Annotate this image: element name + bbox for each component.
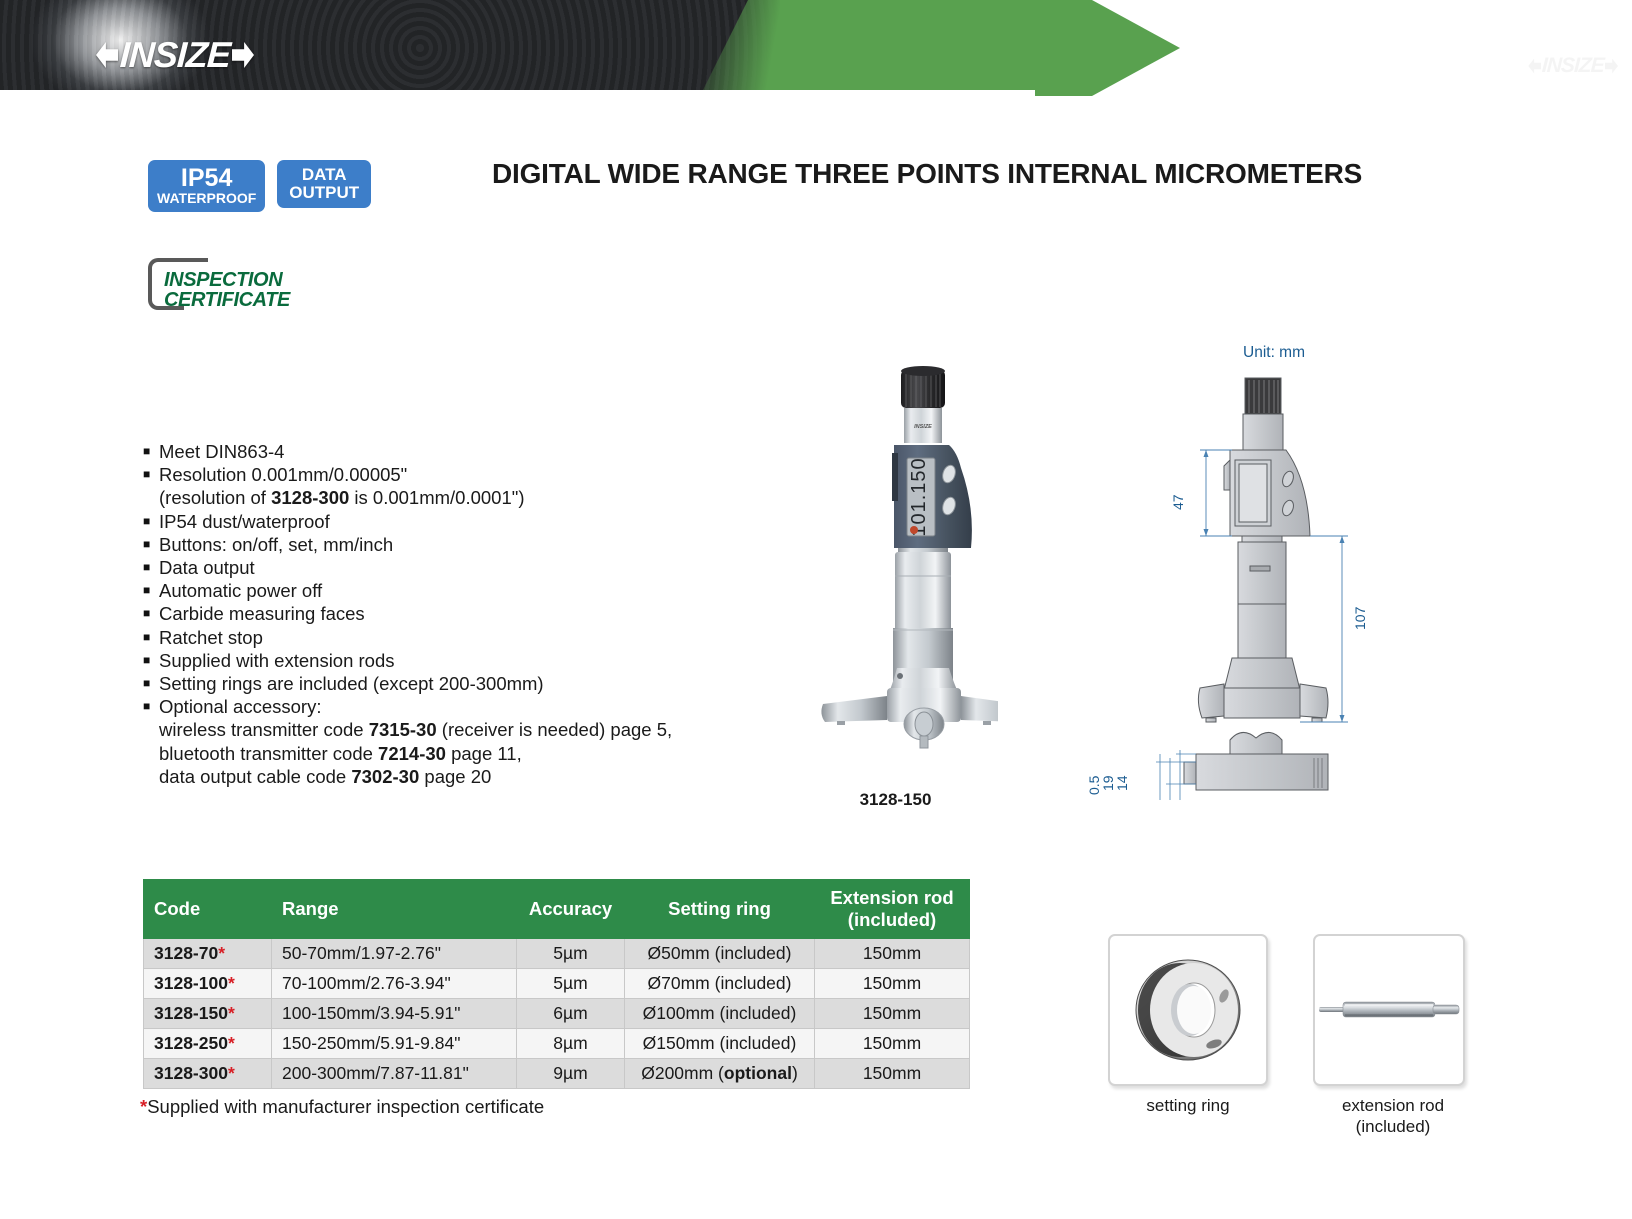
extension-rod-caption: extension rod (included) bbox=[1313, 1095, 1473, 1137]
th-setting-ring: Setting ring bbox=[625, 880, 815, 939]
th-accuracy: Accuracy bbox=[517, 880, 625, 939]
cell-code: 3128-300* bbox=[144, 1058, 272, 1088]
resolution-sub-post: is 0.001mm/0.0001") bbox=[349, 487, 524, 508]
sr-post: ) bbox=[786, 973, 792, 993]
certificate-line2: CERTIFICATE bbox=[164, 290, 290, 310]
logo-left-arrow-icon bbox=[96, 42, 118, 68]
cell-extension-rod: 150mm bbox=[815, 968, 970, 998]
sr-em: included bbox=[720, 973, 785, 993]
setting-ring-image-box bbox=[1108, 934, 1268, 1086]
table-row: 3128-70* 50-70mm/1.97-2.76" 5µm Ø50mm (i… bbox=[144, 938, 970, 968]
code-value: 3128-300 bbox=[154, 1063, 228, 1083]
badge-ip54-line2: WATERPROOF bbox=[157, 191, 256, 206]
feature-item: IP54 dust/waterproof bbox=[143, 510, 803, 533]
cell-extension-rod: 150mm bbox=[815, 1058, 970, 1088]
sr-pre: Ø100mm ( bbox=[643, 1003, 726, 1023]
code-star: * bbox=[218, 943, 225, 963]
page-title: DIGITAL WIDE RANGE THREE POINTS INTERNAL… bbox=[492, 158, 1492, 190]
table-row: 3128-150* 100-150mm/3.94-5.91" 6µm Ø100m… bbox=[144, 998, 970, 1028]
table-body: 3128-70* 50-70mm/1.97-2.76" 5µm Ø50mm (i… bbox=[144, 938, 970, 1088]
code-star: * bbox=[228, 1003, 235, 1023]
table-header-row: Code Range Accuracy Setting ring Extensi… bbox=[144, 880, 970, 939]
cell-accuracy: 9µm bbox=[517, 1058, 625, 1088]
watermark-left-arrow-icon bbox=[1528, 59, 1541, 74]
bullet-icon bbox=[143, 510, 159, 533]
code-value: 3128-150 bbox=[154, 1003, 228, 1023]
optional-post-1: page 11, bbox=[446, 743, 522, 764]
th-range: Range bbox=[272, 880, 517, 939]
sr-pre: Ø50mm ( bbox=[648, 943, 721, 963]
page-header: INSIZE INSIZE bbox=[0, 0, 1632, 96]
feature-text: Resolution 0.001mm/0.00005" bbox=[159, 463, 803, 486]
table-row: 3128-300* 200-300mm/7.87-11.81" 9µm Ø200… bbox=[144, 1058, 970, 1088]
bullet-icon bbox=[143, 602, 159, 625]
feature-text: Buttons: on/off, set, mm/inch bbox=[159, 533, 803, 556]
cell-range: 150-250mm/5.91-9.84" bbox=[272, 1028, 517, 1058]
optional-pre-2: data output cable code bbox=[159, 766, 351, 787]
sr-em: included bbox=[720, 943, 785, 963]
sr-pre: Ø70mm ( bbox=[648, 973, 721, 993]
th-extension-rod-line1: Extension rod bbox=[825, 887, 959, 909]
cell-code: 3128-70* bbox=[144, 938, 272, 968]
cell-range: 70-100mm/2.76-3.94" bbox=[272, 968, 517, 998]
cell-setting-ring: Ø50mm (included) bbox=[625, 938, 815, 968]
feature-text: Ratchet stop bbox=[159, 626, 803, 649]
bullet-icon bbox=[143, 463, 159, 486]
accessory-setting-ring: setting ring bbox=[1108, 934, 1268, 1116]
setting-ring-caption-line1: setting ring bbox=[1108, 1095, 1268, 1116]
feature-text: Automatic power off bbox=[159, 579, 803, 602]
sr-pre: Ø150mm ( bbox=[643, 1033, 726, 1053]
feature-text: IP54 dust/waterproof bbox=[159, 510, 803, 533]
feature-text: Setting rings are included (except 200-3… bbox=[159, 672, 803, 695]
certificate-text: INSPECTION CERTIFICATE bbox=[164, 270, 290, 310]
header-bottom-strip bbox=[0, 90, 1035, 96]
badge-ip54-line1: IP54 bbox=[157, 165, 256, 191]
cell-code: 3128-250* bbox=[144, 1028, 272, 1058]
insize-watermark: INSIZE bbox=[1528, 54, 1618, 78]
code-star: * bbox=[228, 973, 235, 993]
cell-accuracy: 8µm bbox=[517, 1028, 625, 1058]
feature-list: Meet DIN863-4 Resolution 0.001mm/0.00005… bbox=[143, 440, 803, 788]
cell-code: 3128-150* bbox=[144, 998, 272, 1028]
cell-range: 100-150mm/3.94-5.91" bbox=[272, 998, 517, 1028]
sr-em: included bbox=[725, 1033, 790, 1053]
cell-setting-ring: Ø200mm (optional) bbox=[625, 1058, 815, 1088]
feature-item: Optional accessory: bbox=[143, 695, 803, 718]
extension-rod-caption-line2: (included) bbox=[1313, 1116, 1473, 1137]
optional-post-0: (receiver is needed) page 5, bbox=[437, 719, 673, 740]
product-photo-3128-150: INSIZE 101.150 bbox=[793, 358, 998, 768]
feature-text: Carbide measuring faces bbox=[159, 602, 803, 625]
watermark-wordmark: INSIZE bbox=[1542, 54, 1605, 78]
optional-post-2: page 20 bbox=[419, 766, 491, 787]
logo-wordmark: INSIZE bbox=[119, 34, 231, 76]
code-star: * bbox=[228, 1063, 235, 1083]
code-star: * bbox=[228, 1033, 235, 1053]
bullet-icon bbox=[143, 695, 159, 718]
th-code: Code bbox=[144, 880, 272, 939]
sr-em: optional bbox=[724, 1063, 792, 1083]
feature-item: Setting rings are included (except 200-3… bbox=[143, 672, 803, 695]
cell-setting-ring: Ø100mm (included) bbox=[625, 998, 815, 1028]
resolution-sub-pre: (resolution of bbox=[159, 487, 271, 508]
feature-item: Carbide measuring faces bbox=[143, 602, 803, 625]
optional-pre-0: wireless transmitter code bbox=[159, 719, 369, 740]
bullet-icon bbox=[143, 579, 159, 602]
cell-extension-rod: 150mm bbox=[815, 938, 970, 968]
svg-text:101.150: 101.150 bbox=[908, 457, 930, 536]
watermark-right-arrow-icon bbox=[1605, 59, 1618, 74]
product-caption: 3128-150 bbox=[793, 790, 998, 810]
th-extension-rod-line2: (included) bbox=[825, 909, 959, 931]
svg-text:INSIZE: INSIZE bbox=[914, 424, 932, 430]
extension-rod-image-box bbox=[1313, 934, 1465, 1086]
cell-setting-ring: Ø70mm (included) bbox=[625, 968, 815, 998]
bullet-icon bbox=[143, 440, 159, 463]
feature-item: Ratchet stop bbox=[143, 626, 803, 649]
sr-post: ) bbox=[786, 943, 792, 963]
code-value: 3128-250 bbox=[154, 1033, 228, 1053]
sr-pre: Ø200mm ( bbox=[641, 1063, 724, 1083]
dim-label-107: 107 bbox=[1352, 607, 1368, 630]
feature-item: Supplied with extension rods bbox=[143, 649, 803, 672]
feature-text: Data output bbox=[159, 556, 803, 579]
feature-subtext-resolution: (resolution of 3128-300 is 0.001mm/0.000… bbox=[143, 486, 803, 509]
cell-range: 200-300mm/7.87-11.81" bbox=[272, 1058, 517, 1088]
optional-code-0: 7315-30 bbox=[369, 719, 437, 740]
product-spec-table: Code Range Accuracy Setting ring Extensi… bbox=[143, 879, 970, 1089]
th-extension-rod: Extension rod (included) bbox=[815, 880, 970, 939]
cell-range: 50-70mm/1.97-2.76" bbox=[272, 938, 517, 968]
cell-code: 3128-100* bbox=[144, 968, 272, 998]
cell-extension-rod: 150mm bbox=[815, 1028, 970, 1058]
feature-item: Meet DIN863-4 bbox=[143, 440, 803, 463]
cell-accuracy: 5µm bbox=[517, 938, 625, 968]
code-value: 3128-70 bbox=[154, 943, 218, 963]
bullet-icon bbox=[143, 672, 159, 695]
sr-em: included bbox=[725, 1003, 790, 1023]
badge-data-output: DATA OUTPUT bbox=[277, 160, 371, 208]
feature-badges: IP54 WATERPROOF DATA OUTPUT bbox=[148, 160, 371, 212]
accessory-extension-rod: extension rod (included) bbox=[1313, 934, 1473, 1137]
optional-pre-1: bluetooth transmitter code bbox=[159, 743, 378, 764]
table-row: 3128-100* 70-100mm/2.76-3.94" 5µm Ø70mm … bbox=[144, 968, 970, 998]
resolution-sub-code: 3128-300 bbox=[271, 487, 349, 508]
feature-item: Buttons: on/off, set, mm/inch bbox=[143, 533, 803, 556]
header-green-arrow bbox=[780, 0, 1180, 96]
feature-item: Resolution 0.001mm/0.00005" bbox=[143, 463, 803, 486]
feature-text: Meet DIN863-4 bbox=[159, 440, 803, 463]
table-footnote: *Supplied with manufacturer inspection c… bbox=[140, 1096, 544, 1118]
bullet-icon bbox=[143, 649, 159, 672]
bullet-icon bbox=[143, 556, 159, 579]
cell-accuracy: 5µm bbox=[517, 968, 625, 998]
code-value: 3128-100 bbox=[154, 973, 228, 993]
cell-accuracy: 6µm bbox=[517, 998, 625, 1028]
logo-right-arrow-icon bbox=[232, 42, 254, 68]
certificate-line1: INSPECTION bbox=[164, 270, 290, 290]
cell-extension-rod: 150mm bbox=[815, 998, 970, 1028]
optional-code-1: 7214-30 bbox=[378, 743, 446, 764]
dim-label-14: 14 bbox=[1114, 775, 1130, 791]
feature-item: Automatic power off bbox=[143, 579, 803, 602]
badge-data-line2: OUTPUT bbox=[289, 184, 359, 202]
optional-code-2: 7302-30 bbox=[351, 766, 419, 787]
badge-ip54-waterproof: IP54 WATERPROOF bbox=[148, 160, 265, 212]
bullet-icon bbox=[143, 626, 159, 649]
extension-rod-caption-line1: extension rod bbox=[1313, 1095, 1473, 1116]
cell-setting-ring: Ø150mm (included) bbox=[625, 1028, 815, 1058]
insize-logo: INSIZE bbox=[96, 34, 254, 76]
inspection-certificate-logo: INSPECTION CERTIFICATE bbox=[148, 258, 338, 316]
technical-drawing bbox=[1060, 340, 1390, 810]
sr-post: ) bbox=[791, 1003, 797, 1023]
feature-item: Data output bbox=[143, 556, 803, 579]
badge-data-line1: DATA bbox=[289, 166, 359, 184]
optional-accessory-line: data output cable code 7302-30 page 20 bbox=[143, 765, 803, 788]
footnote-text: Supplied with manufacturer inspection ce… bbox=[147, 1096, 544, 1117]
bullet-icon bbox=[143, 533, 159, 556]
sr-post: ) bbox=[791, 1033, 797, 1053]
sr-post: ) bbox=[792, 1063, 798, 1083]
optional-accessory-line: bluetooth transmitter code 7214-30 page … bbox=[143, 742, 803, 765]
table-row: 3128-250* 150-250mm/5.91-9.84" 8µm Ø150m… bbox=[144, 1028, 970, 1058]
feature-text: Optional accessory: bbox=[159, 695, 803, 718]
dim-label-47: 47 bbox=[1170, 494, 1186, 510]
feature-text: Supplied with extension rods bbox=[159, 649, 803, 672]
setting-ring-caption: setting ring bbox=[1108, 1095, 1268, 1116]
optional-accessory-line: wireless transmitter code 7315-30 (recei… bbox=[143, 718, 803, 741]
